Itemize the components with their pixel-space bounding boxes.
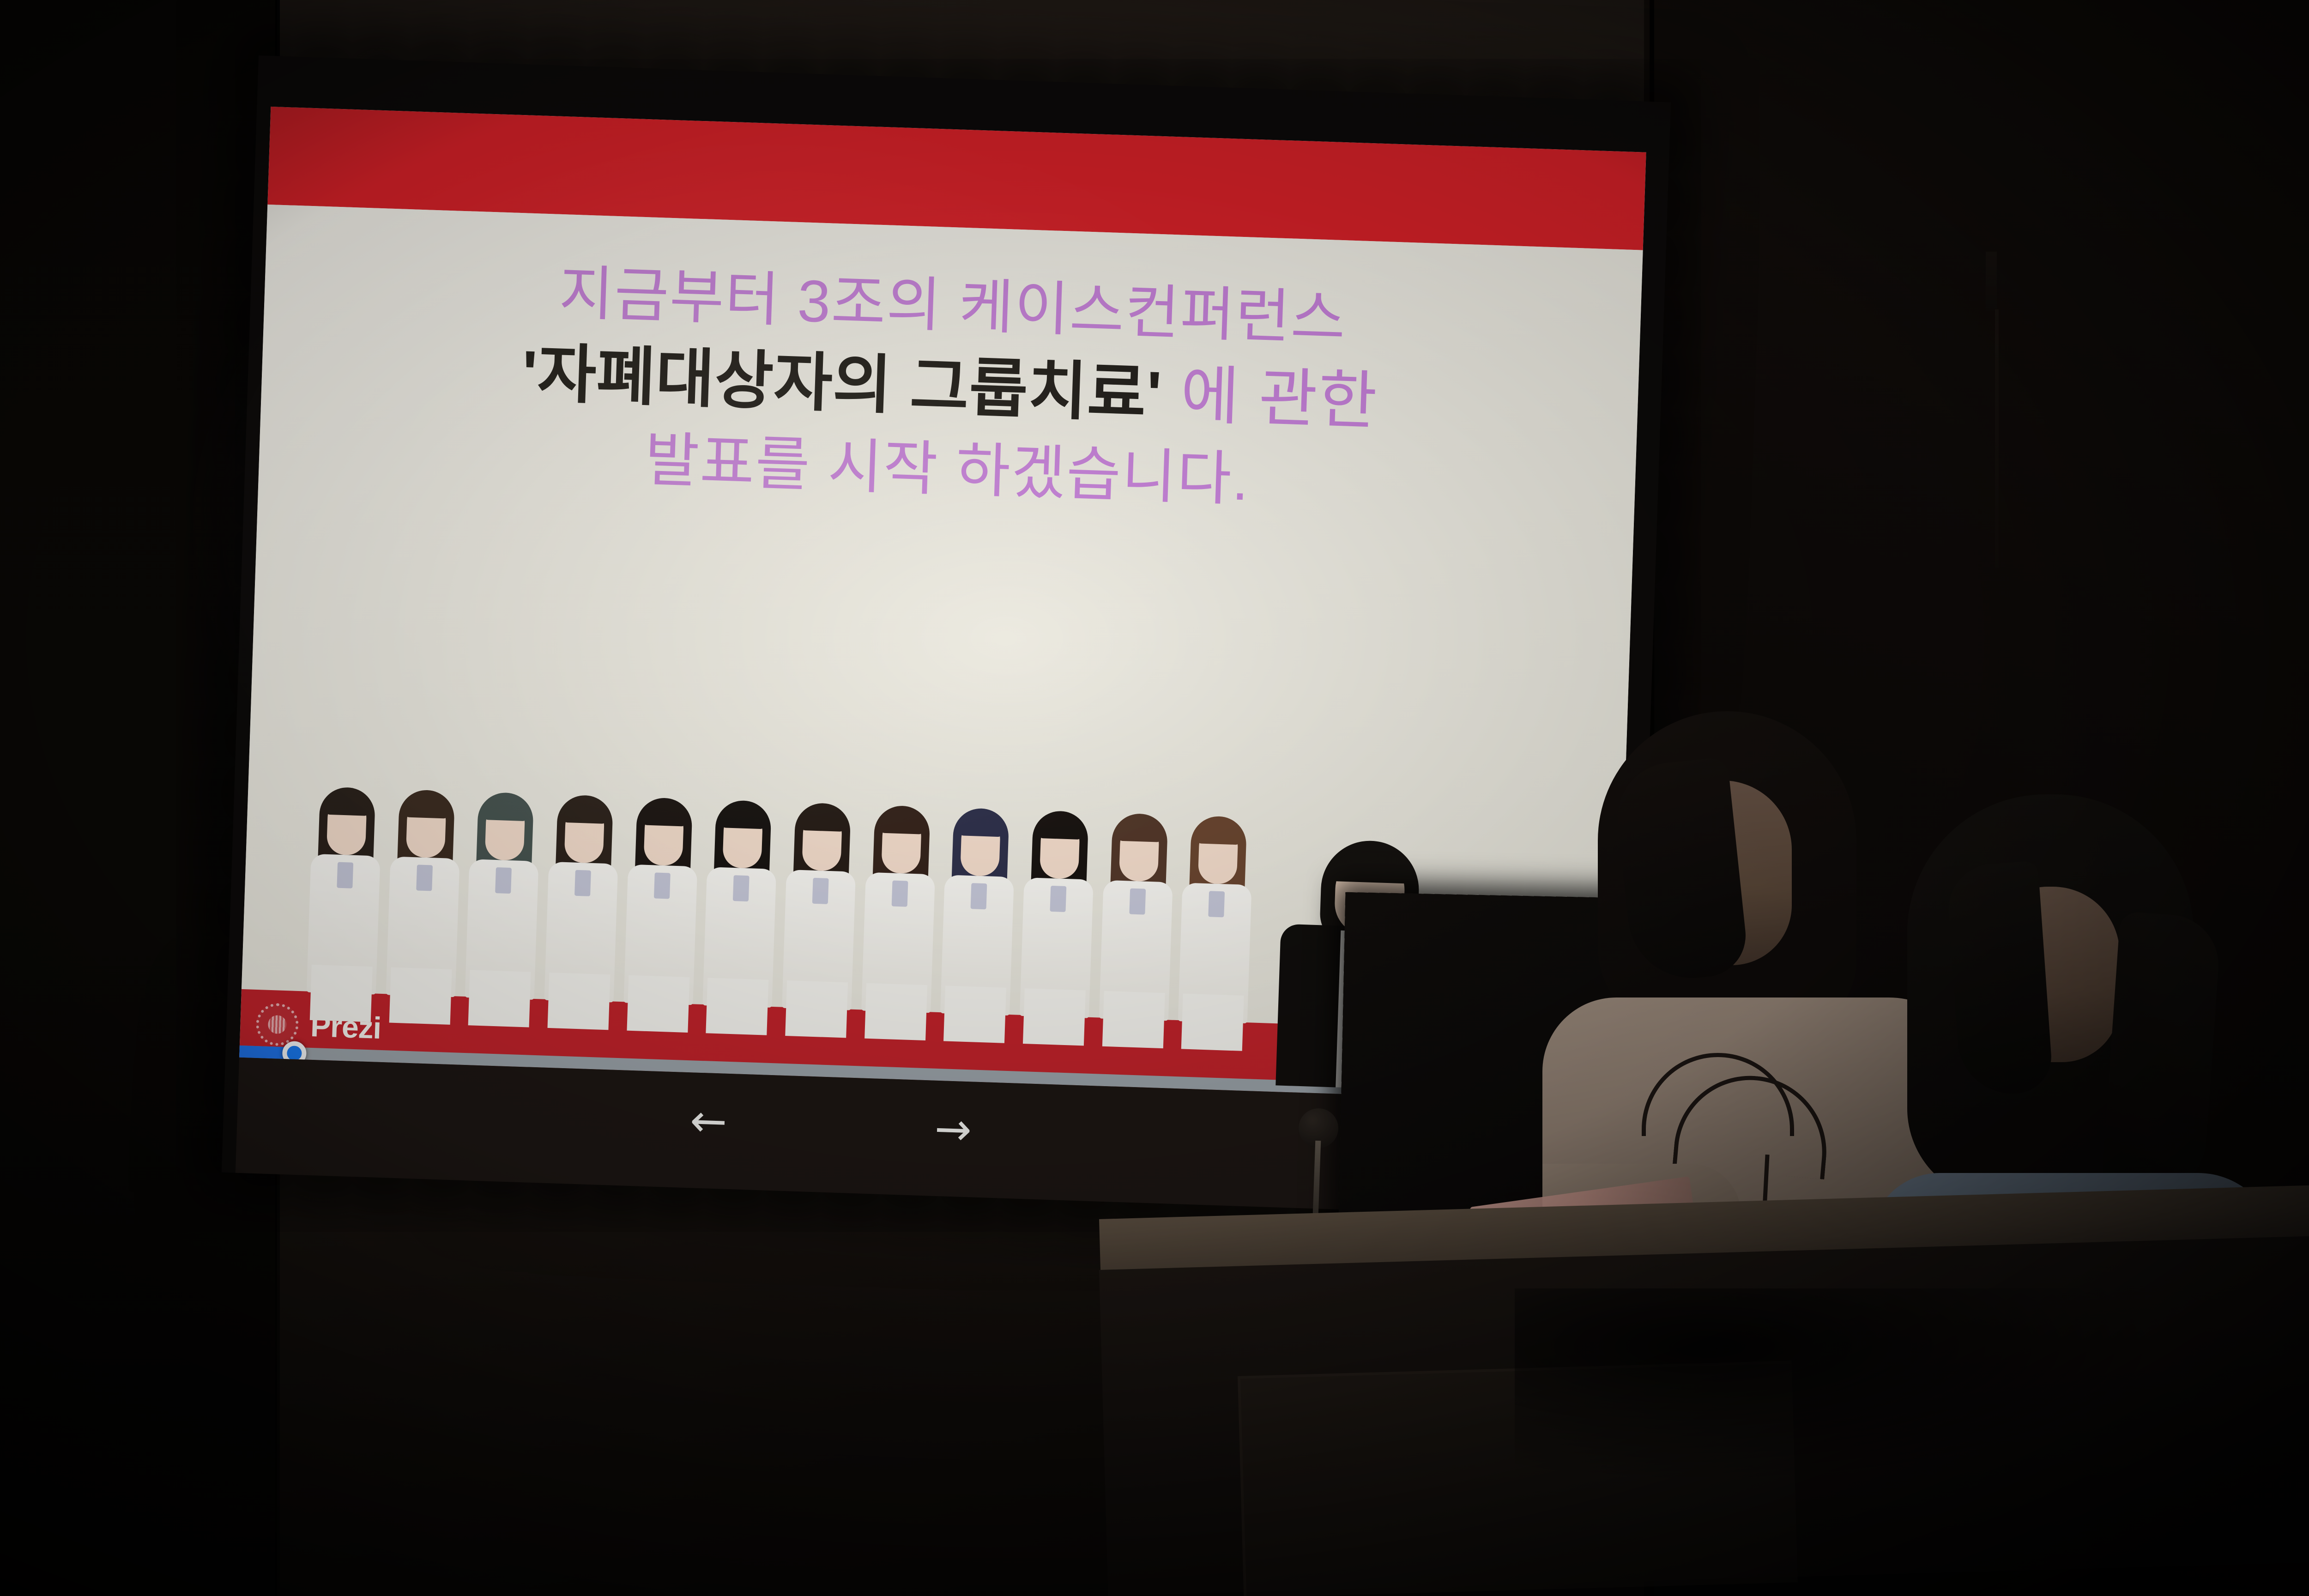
person-skirt [706,978,769,1035]
slide-title-block: 지금부터 3조의 케이스컨퍼런스 '자폐대상자의 그룹치료' 에 관한 발표를 … [314,247,1586,530]
person-skirt [310,965,373,1022]
wall-conduit [1995,309,1999,568]
wooden-podium [1099,1219,2309,1596]
person-tie [1209,891,1225,917]
person-skirt [627,975,689,1033]
person-skirt [468,970,531,1027]
person-tie [574,870,591,896]
next-arrow-icon[interactable]: → [934,1106,973,1152]
person-skirt [1023,988,1086,1046]
person-skirt [547,973,610,1030]
person-skirt [389,967,452,1025]
person-tie [416,864,433,891]
person-tie [1129,889,1146,915]
person-tie [653,872,670,899]
person-tie [891,880,908,907]
person-tie [971,883,987,909]
person-tie [733,875,750,901]
auditorium-photo: 지금부터 3조의 케이스컨퍼런스 '자폐대상자의 그룹치료' 에 관한 발표를 … [0,0,2309,1596]
presenter-right-hair-side [2101,911,2222,1204]
person-tie [337,862,353,889]
wall-mark [1986,252,1997,312]
slide-title-line-2-suffix: 에 관한 [1179,360,1379,437]
person-skirt [785,980,848,1038]
person-skirt [943,985,1006,1043]
person-tie [1050,886,1066,912]
person-tie [495,867,512,894]
person-skirt [864,983,927,1040]
person-tie [812,878,829,904]
previous-arrow-icon[interactable]: ← [689,1098,728,1144]
slide-title-quoted-phrase: '자폐대상자의 그룹치료' [521,338,1163,430]
person-skirt [1181,993,1244,1051]
person-skirt [1102,991,1165,1048]
podium-shadow [1515,1288,2161,1482]
prezi-sunburst-icon [255,1003,299,1046]
